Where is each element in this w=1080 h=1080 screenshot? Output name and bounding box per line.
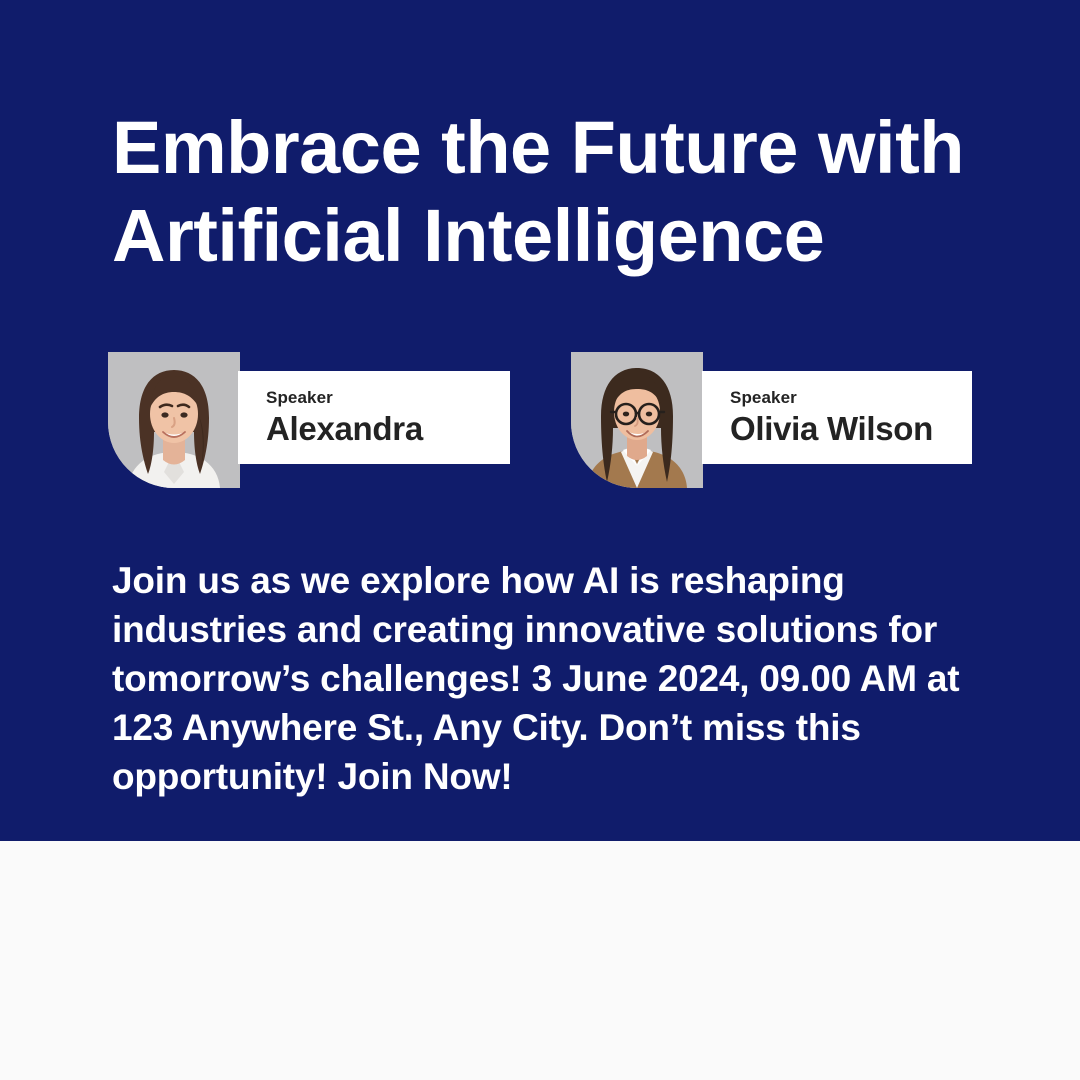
event-description: Join us as we explore how AI is reshapin…: [112, 556, 992, 801]
avatar: [571, 352, 703, 488]
speaker-info: Speaker Olivia Wilson: [702, 371, 972, 464]
hero-panel: Embrace the Future with Artificial Intel…: [0, 0, 1080, 841]
footer-bar: Capcut Free Registration! Follow our soc…: [0, 841, 1080, 1080]
headline-line-1: Embrace the Future with: [112, 104, 1012, 192]
speaker-info: Speaker Alexandra: [238, 371, 510, 464]
event-poster: Embrace the Future with Artificial Intel…: [0, 0, 1080, 1080]
speaker-name: Olivia Wilson: [730, 410, 972, 448]
speaker-list: Speaker Alexandra: [108, 352, 972, 488]
headline-line-2: Artificial Intelligence: [112, 192, 1012, 280]
speaker-role-label: Speaker: [730, 388, 972, 408]
speaker-name: Alexandra: [266, 410, 510, 448]
avatar: [108, 352, 240, 488]
speaker-role-label: Speaker: [266, 388, 510, 408]
speaker-card[interactable]: Speaker Alexandra: [108, 352, 510, 488]
speaker-card[interactable]: Speaker Olivia Wilson: [571, 352, 972, 488]
page-title: Embrace the Future with Artificial Intel…: [112, 104, 1012, 280]
